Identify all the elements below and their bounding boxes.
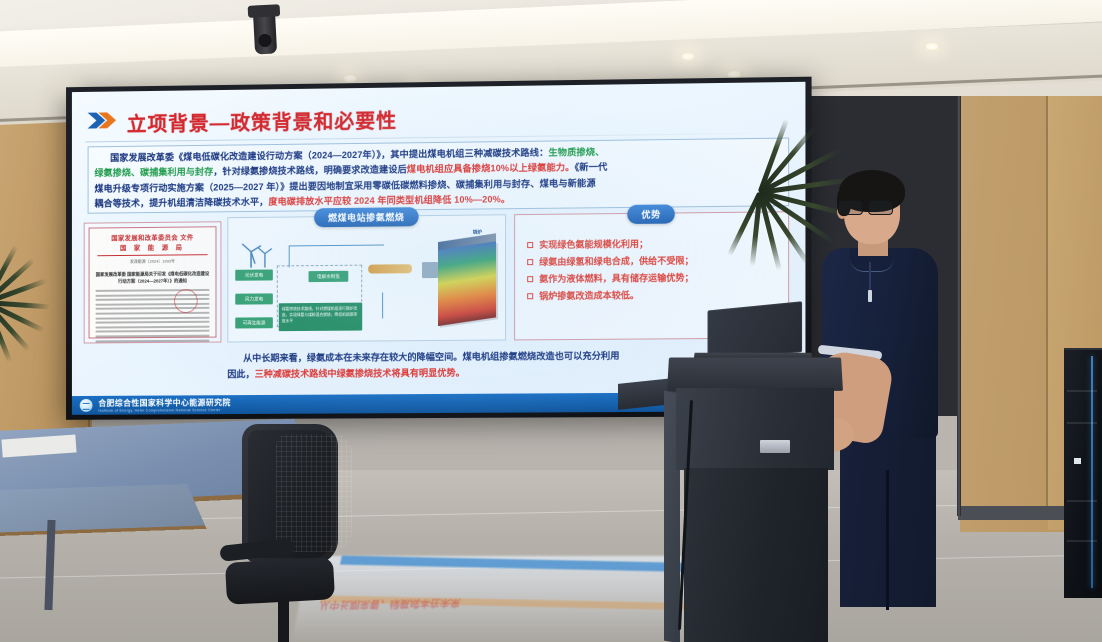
diagram-label-pv: 光伏发电 bbox=[235, 269, 273, 280]
process-diagram-panel: 燃煤电站掺氨燃烧 bbox=[227, 214, 506, 342]
av-equipment-rack bbox=[1064, 348, 1102, 598]
list-item-label: 实现绿色氨能规模化利用； bbox=[539, 236, 648, 254]
ceiling-camera-icon bbox=[253, 9, 277, 54]
diagram-connector bbox=[289, 244, 384, 246]
document-thumbnail: 国家发展和改革委员会 文件 国 家 能 源 局 发改能源〔2024〕1093号 … bbox=[89, 226, 217, 338]
diagram-note: 绿氨掺烧技术路线，针对燃煤机组进行锅炉改造，实现绿氨与煤粉混合燃烧，降低机组碳排… bbox=[279, 303, 362, 332]
list-item-label: 绿氨由绿氢和绿电合成，供给不受限； bbox=[539, 253, 693, 272]
diagram-connector bbox=[289, 245, 290, 267]
laptop-screen bbox=[708, 301, 803, 359]
doc-rule bbox=[97, 254, 207, 256]
text-run: ，针对绿氨掺烧技术路线，明确要求改造建设后 bbox=[213, 165, 407, 177]
presenter-pen bbox=[868, 290, 872, 302]
doc-title: 国家发展改革委 国家能源局关于印发《煤电低碳化改造建设行动方案（2024—202… bbox=[95, 270, 209, 285]
presenter-leg-split bbox=[886, 470, 889, 610]
list-item: 氨作为液体燃料，具有储存运输优势； bbox=[527, 269, 780, 288]
wall-seam bbox=[1046, 60, 1048, 520]
conference-room-scene: 从中长期来看，绿氨成本在未来 bbox=[0, 0, 1102, 642]
institute-logo-icon bbox=[80, 399, 93, 412]
footer-institute-cn: 合肥综合性国家科学中心能源研究院 bbox=[98, 397, 230, 409]
diagram-label-renewable: 可再生能源 bbox=[235, 317, 273, 328]
text-run: 三种减碳技术路线中绿氨掺烧技术将具有明显优势。 bbox=[255, 368, 465, 379]
podium-base bbox=[684, 468, 828, 642]
chair-post bbox=[278, 596, 289, 642]
podium-top-surface bbox=[667, 357, 843, 390]
doc-number: 发改能源〔2024〕1093号 bbox=[95, 258, 209, 265]
conference-table-second bbox=[0, 484, 207, 538]
diagram-unit bbox=[422, 262, 438, 278]
footer-left-text: 合肥综合性国家科学中心能源研究院 Institute of Energy, He… bbox=[98, 397, 230, 413]
bullet-square-icon bbox=[527, 259, 533, 265]
downlight bbox=[342, 74, 358, 83]
glasses-icon bbox=[838, 200, 902, 216]
text-run: 国家发展改革委《煤电低碳化改造建设行动方案（2024—2027年）》，其中提出煤… bbox=[110, 148, 548, 163]
mesh-office-chair bbox=[218, 424, 348, 642]
text-run: 从中长期来看，绿氨成本在未来存在较大的降幅空间。煤电机组掺氨燃烧改造也可以充分利… bbox=[243, 351, 619, 364]
bullet-square-icon bbox=[527, 293, 533, 299]
doc-header-line1: 国家发展和改革委员会 文件 bbox=[95, 232, 209, 242]
diagram-title-badge: 燃煤电站掺氨燃烧 bbox=[314, 207, 418, 227]
diagram-canvas: 光伏发电 风力发电 可再生能源 电解水制氢 绿氨掺烧技术路线，针对燃煤机组进行锅… bbox=[233, 229, 500, 337]
list-item-label: 氨作为液体燃料，具有储存运输优势； bbox=[539, 270, 693, 288]
diagram-connector bbox=[382, 292, 383, 318]
double-chevron-icon bbox=[88, 110, 117, 135]
rack-status-led bbox=[1074, 458, 1081, 464]
text-run: 耦合等技术，提升机组清洁降碳技术水平， bbox=[94, 197, 268, 209]
slide-header: 立项背景—政策背景和必要性 bbox=[88, 105, 397, 138]
downlight bbox=[680, 52, 696, 61]
downlight bbox=[924, 42, 940, 51]
policy-paragraph-box: 国家发展改革委《煤电低碳化改造建设行动方案（2024—2027年）》，其中提出煤… bbox=[88, 138, 790, 214]
advantages-title-badge: 优势 bbox=[627, 204, 675, 224]
text-run: 煤电升级专项行动实施方案（2025—2027 年）》提出要因地制宜采用零碳低碳燃… bbox=[94, 178, 595, 194]
bullet-square-icon bbox=[527, 276, 533, 282]
chair-mesh bbox=[276, 434, 352, 552]
text-run: 煤电机组应具备掺烧10%以上绿氨能力。 bbox=[407, 163, 575, 175]
page-title: 立项背景—政策背景和必要性 bbox=[127, 105, 397, 137]
diagram-label-wind: 风力发电 bbox=[235, 293, 273, 304]
text-run: 生物质掺烧、 bbox=[548, 147, 604, 158]
list-item-label: 锅炉掺氨改造成本较低。 bbox=[539, 287, 639, 305]
speaker-podium bbox=[664, 356, 846, 642]
footer-institute-en: Institute of Energy, Hefei Comprehensive… bbox=[98, 408, 230, 413]
text-run: 绿氨掺烧、碳捕集利用与封存 bbox=[94, 167, 213, 178]
diagram-reactor bbox=[368, 264, 412, 273]
podium-front-panel bbox=[676, 388, 834, 470]
diagram-boiler-cfd bbox=[438, 241, 496, 326]
policy-paragraph: 国家发展改革委《煤电低碳化改造建设行动方案（2024—2027年）》，其中提出煤… bbox=[94, 143, 782, 213]
bullet-square-icon bbox=[527, 242, 533, 248]
text-run: 度电碳排放水平应较 2024 年同类型机组降低 10%—20%。 bbox=[268, 194, 510, 207]
text-run: 《新一代 bbox=[575, 162, 608, 172]
advantages-list: 实现绿色氨能规模化利用；绿氨由绿氢和绿电合成，供给不受限；氨作为液体燃料，具有储… bbox=[527, 235, 780, 306]
text-run: 因此， bbox=[227, 369, 254, 379]
podium-nameplate bbox=[760, 440, 790, 453]
policy-document-panel: 国家发展和改革委员会 文件 国 家 能 源 局 发改能源〔2024〕1093号 … bbox=[84, 221, 222, 343]
doc-header-line2: 国 家 能 源 局 bbox=[95, 242, 209, 252]
list-item: 锅炉掺氨改造成本较低。 bbox=[527, 286, 780, 305]
